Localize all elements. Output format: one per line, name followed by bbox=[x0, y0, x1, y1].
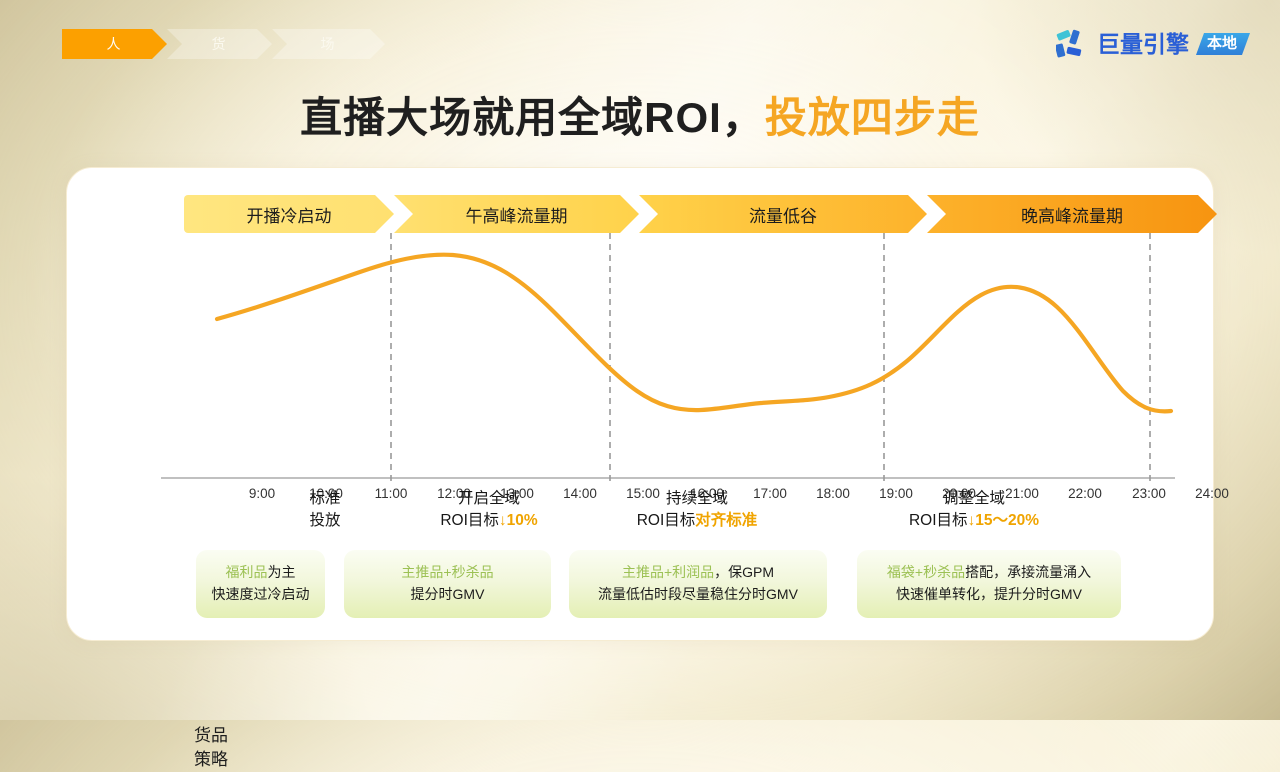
card-green-text: 福利品 bbox=[226, 564, 268, 580]
strategy-headers: 标准 投放 开启全域 ROI目标↓10% 持续全域 ROI目标对齐标准 调整全域… bbox=[67, 488, 1215, 546]
phase-traffic-trough[interactable]: 流量低谷 bbox=[639, 195, 927, 233]
ocean-engine-logo-icon bbox=[1056, 28, 1090, 60]
strategy-head-plain: ROI目标 bbox=[637, 512, 696, 529]
strategy-card-text: 福利品为主 快速度过冷启动 bbox=[212, 562, 310, 605]
row-label-goods-strategy: 货品 策略 bbox=[171, 724, 251, 772]
ribbon-item-huo[interactable]: 货 bbox=[167, 29, 272, 59]
strategy-card-text: 福袋+秒杀品搭配，承接流量涌入 快速催单转化，提升分时GMV bbox=[887, 562, 1091, 605]
traffic-line-path bbox=[217, 255, 1171, 412]
strategy-card-text: 主推品+秒杀品 提分时GMV bbox=[401, 562, 493, 605]
strategy-head-plain: ROI目标 bbox=[909, 512, 968, 529]
card-line2: 流量低估时段尽量稳住分时GMV bbox=[598, 584, 798, 606]
phase-arrow-band: 开播冷启动 午高峰流量期 流量低谷 晚高峰流量期 bbox=[184, 195, 1217, 233]
card-line2: 快速催单转化，提升分时GMV bbox=[887, 584, 1091, 606]
strategy-card-4[interactable]: 福袋+秒杀品搭配，承接流量涌入 快速催单转化，提升分时GMV bbox=[857, 550, 1121, 618]
strategy-head-line2: ROI目标↓15～20% bbox=[827, 510, 1121, 532]
strategy-cards: 福利品为主 快速度过冷启动 主推品+秒杀品 提分时GMV 主推品+利润品，保GP… bbox=[67, 550, 1215, 620]
strategy-head-gold: 对齐标准 bbox=[695, 512, 757, 529]
page-title-highlight: 投放四步走 bbox=[765, 94, 980, 141]
card-green-text: 主推品+利润品 bbox=[622, 564, 714, 580]
strategy-head-4: 调整全域 ROI目标↓15～20% bbox=[827, 488, 1121, 533]
strategy-card-text: 主推品+利润品，保GPM 流量低估时段尽量稳住分时GMV bbox=[598, 562, 798, 605]
phase-evening-peak[interactable]: 晚高峰流量期 bbox=[927, 195, 1217, 233]
logo-wordmark: 巨量引擎 bbox=[1097, 33, 1189, 56]
page-title: 直播大场就用全域ROI，投放四步走 bbox=[0, 84, 1280, 145]
ribbon-item-label: 人 bbox=[107, 34, 123, 54]
breadcrumb-ribbon: 人 货 场 bbox=[62, 29, 385, 59]
strategy-head-3: 持续全域 ROI目标对齐标准 bbox=[553, 488, 841, 533]
strategy-head-plain: ROI目标 bbox=[440, 512, 499, 529]
card-plain-text: ，保GPM bbox=[714, 564, 774, 580]
page-title-main: 直播大场就用全域ROI， bbox=[300, 94, 765, 141]
phase-label: 晚高峰流量期 bbox=[1021, 202, 1123, 227]
phase-label: 午高峰流量期 bbox=[466, 202, 568, 227]
strategy-card-1[interactable]: 福利品为主 快速度过冷启动 bbox=[196, 550, 325, 618]
ribbon-item-ren[interactable]: 人 bbox=[62, 29, 167, 59]
strategy-head-line1: 调整全域 bbox=[827, 488, 1121, 510]
card-line2: 提分时GMV bbox=[401, 584, 493, 606]
phase-cold-start[interactable]: 开播冷启动 bbox=[184, 195, 394, 233]
phase-noon-peak[interactable]: 午高峰流量期 bbox=[394, 195, 639, 233]
ribbon-item-chang[interactable]: 场 bbox=[272, 29, 385, 59]
card-green-text: 主推品+秒杀品 bbox=[401, 564, 493, 580]
row-label-line2: 策略 bbox=[171, 748, 251, 772]
main-panel: 开播冷启动 午高峰流量期 流量低谷 晚高峰流量期 9:00 10:00 11:0 bbox=[66, 167, 1214, 641]
phase-label: 流量低谷 bbox=[749, 202, 817, 227]
logo-badge-local: 本地 bbox=[1196, 33, 1250, 55]
strategy-head-line1: 持续全域 bbox=[553, 488, 841, 510]
card-plain-text: 搭配，承接流量涌入 bbox=[965, 564, 1091, 580]
strategy-head-gold: ↓10% bbox=[499, 512, 538, 529]
phase-label: 开播冷启动 bbox=[247, 202, 332, 227]
strategy-card-2[interactable]: 主推品+秒杀品 提分时GMV bbox=[344, 550, 551, 618]
card-line2: 快速度过冷启动 bbox=[212, 584, 310, 606]
strategy-head-gold: ↓15～20% bbox=[968, 512, 1040, 529]
strategy-head-line2: ROI目标对齐标准 bbox=[553, 510, 841, 532]
traffic-curve-svg bbox=[161, 233, 1175, 481]
ribbon-item-label: 货 bbox=[212, 34, 228, 54]
strategy-head-plain: 投放 bbox=[309, 512, 340, 529]
ribbon-item-label: 场 bbox=[321, 34, 337, 54]
brand-logo: 巨量引擎 本地 bbox=[1056, 28, 1250, 60]
strategy-card-3[interactable]: 主推品+利润品，保GPM 流量低估时段尽量稳住分时GMV bbox=[569, 550, 827, 618]
card-plain-text: 为主 bbox=[268, 564, 296, 580]
row-label-line1: 货品 bbox=[171, 724, 251, 748]
card-green-text: 福袋+秒杀品 bbox=[887, 564, 965, 580]
